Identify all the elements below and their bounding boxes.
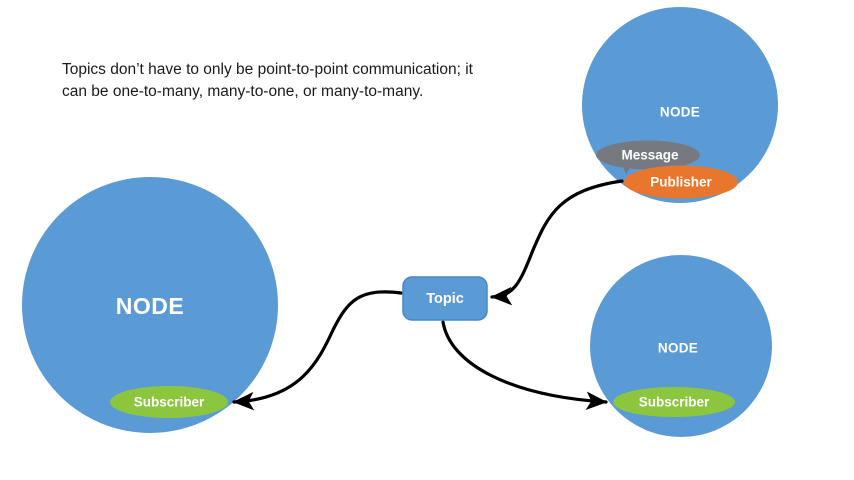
publisher-pill-label: Publisher xyxy=(650,175,712,190)
topic-box[interactable]: Topic xyxy=(403,277,487,320)
caption-text: Topics don’t have to only be point-to-po… xyxy=(62,59,482,104)
connector-topic-to-subscriber-bottom-right xyxy=(443,322,606,402)
message-bubble-label: Message xyxy=(621,148,679,163)
node-left-label: NODE xyxy=(116,293,184,319)
subscriber-pill-bottom-right-label: Subscriber xyxy=(639,395,710,410)
node-left[interactable]: NODE Subscriber xyxy=(22,177,278,433)
node-top-right[interactable]: NODE Message Publisher xyxy=(582,7,778,203)
subscriber-pill-left-label: Subscriber xyxy=(134,395,205,410)
connector-publisher-to-topic xyxy=(492,181,622,297)
node-top-right-label: NODE xyxy=(660,105,700,120)
topic-box-label: Topic xyxy=(426,291,464,307)
node-bottom-right-label: NODE xyxy=(658,341,698,356)
diagram-canvas: NODE Subscriber NODE Message Publisher N… xyxy=(0,0,854,480)
node-bottom-right[interactable]: NODE Subscriber xyxy=(590,255,772,437)
